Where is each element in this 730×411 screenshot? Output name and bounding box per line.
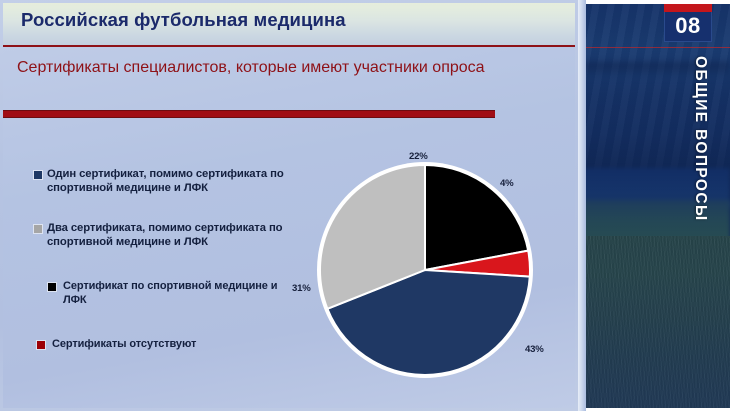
- legend-item-label: Сертификат по спортивной медицине и ЛФК: [63, 280, 302, 307]
- legend-item: Сертификат по спортивной медицине и ЛФК: [48, 280, 302, 307]
- pie-chart-svg: [310, 145, 560, 385]
- pie-value-label-red: 4%: [500, 178, 513, 189]
- sidebar-panel: 08 ОБЩИЕ ВОПРОСЫ: [578, 0, 730, 411]
- main-content-area: Российская футбольная медицина Сертифика…: [0, 0, 578, 411]
- pie-value-label-gray: 31%: [292, 283, 311, 294]
- legend-item: Два сертификата, помимо сертификата по с…: [34, 222, 282, 249]
- legend-item: Один сертификат, помимо сертификата по с…: [34, 168, 284, 195]
- page-title: Российская футбольная медицина: [21, 9, 346, 31]
- subtitle-underline-rule: [3, 110, 495, 118]
- pie-chart: 43% 4% 22% 31%: [310, 145, 560, 385]
- legend-swatch-icon: [34, 225, 42, 233]
- legend-item: Сертификаты отсутствуют: [37, 338, 196, 352]
- legend-item-label: Два сертификата, помимо сертификата по с…: [47, 222, 282, 249]
- legend-item-label: Сертификаты отсутствуют: [52, 338, 196, 352]
- pie-value-label-navy: 43%: [525, 344, 544, 355]
- legend-item-label: Один сертификат, помимо сертификата по с…: [47, 168, 284, 195]
- legend-swatch-icon: [48, 283, 56, 291]
- legend-swatch-icon: [37, 341, 45, 349]
- sidebar-vertical-title: ОБЩИЕ ВОПРОСЫ: [685, 0, 715, 411]
- slide-canvas: Российская футбольная медицина Сертифика…: [0, 0, 730, 411]
- sidebar-left-edge: [578, 0, 586, 411]
- pie-value-label-black: 22%: [409, 151, 428, 162]
- legend-swatch-icon: [34, 171, 42, 179]
- slide-subtitle: Сертификаты специалистов, которые имеют …: [17, 57, 515, 78]
